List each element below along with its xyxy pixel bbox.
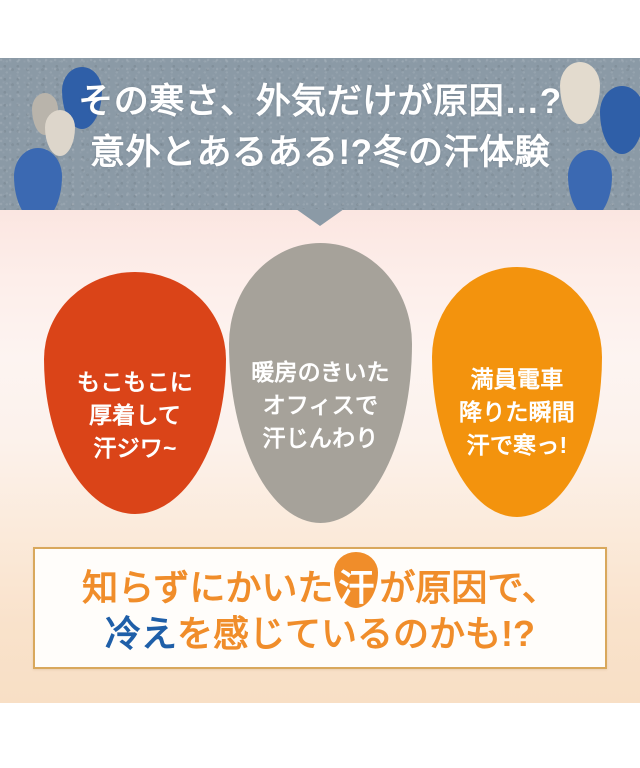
droplet-card-heated-office-inner: 暖房のきいた オフィスで 汗じんわり	[229, 341, 412, 471]
bottom-white-margin	[0, 703, 640, 768]
header-title-line-1: その寒さ、外気だけが原因…?	[0, 76, 640, 127]
droplet-card-crowded-train-label: 満員電車 降りた瞬間 汗で寒っ!	[432, 363, 602, 462]
droplet-card-heated-office-label: 暖房のきいた オフィスで 汗じんわり	[229, 357, 412, 456]
droplet-card-crowded-train-inner: 満員電車 降りた瞬間 汗で寒っ!	[432, 350, 602, 475]
callout-line-2-part-1: 冷え	[105, 613, 177, 654]
callout-box: 知らずにかいた汗が原因で、 冷えを感じているのかも!?	[33, 547, 607, 669]
callout-line-2-part-2: を感じているのかも!?	[177, 613, 535, 654]
header-notch-arrow	[296, 209, 344, 226]
header-title-line-2: 意外とあるある!?冬の汗体験	[0, 127, 640, 178]
callout-line-2: 冷えを感じているのかも!?	[35, 611, 605, 657]
droplet-card-thick-clothing-label: もこもこに 厚着して 汗ジワ~	[44, 367, 226, 466]
callout-line-1: 知らずにかいた汗が原因で、	[35, 565, 605, 611]
header-title: その寒さ、外気だけが原因…? 意外とあるある!?冬の汗体験	[0, 76, 640, 178]
callout-line-1-part-1: 知らずにかいた	[82, 567, 333, 608]
callout-line-1-part-2: が原因で、	[379, 567, 558, 608]
infographic-page: その寒さ、外気だけが原因…? 意外とあるある!?冬の汗体験 もこもこに 厚着して…	[0, 0, 640, 768]
droplet-card-thick-clothing-inner: もこもこに 厚着して 汗ジワ~	[44, 356, 226, 476]
top-white-margin	[0, 0, 640, 58]
sweat-kanji-droplet-icon: 汗	[333, 565, 379, 611]
callout-text: 知らずにかいた汗が原因で、 冷えを感じているのかも!?	[35, 565, 605, 657]
